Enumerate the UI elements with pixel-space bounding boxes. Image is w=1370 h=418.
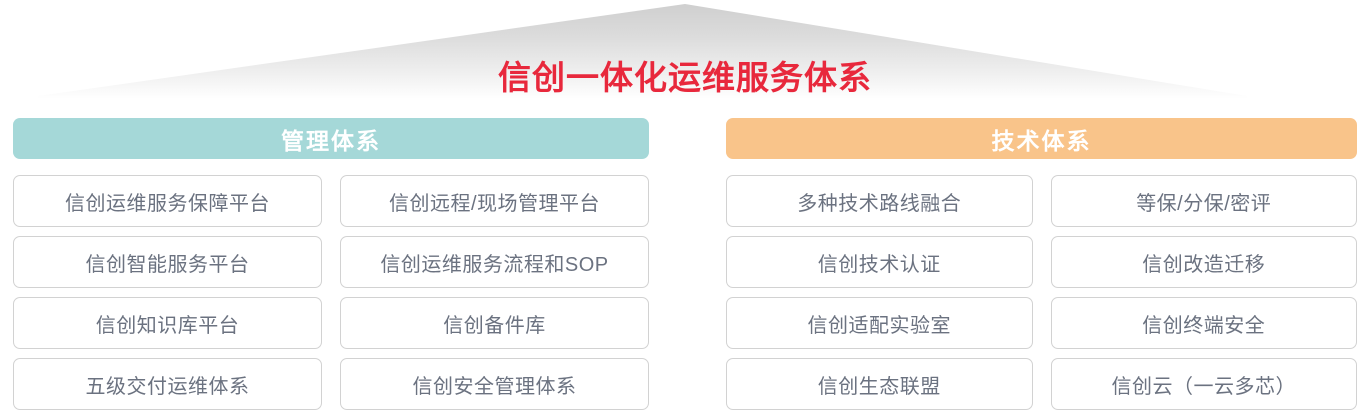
pillar-technology: 技术体系 多种技术路线融合 信创技术认证 信创适配实验室 信创生态联盟 等保/分… [726, 118, 1357, 410]
list-item[interactable]: 信创云（一云多芯） [1051, 358, 1358, 410]
diagram-canvas: 信创一体化运维服务体系 管理体系 信创运维服务保障平台 信创智能服务平台 信创知… [0, 0, 1370, 418]
list-item[interactable]: 信创技术认证 [726, 236, 1033, 288]
pillar-column-3: 多种技术路线融合 信创技术认证 信创适配实验室 信创生态联盟 [726, 175, 1033, 410]
pillar-column-2: 信创远程/现场管理平台 信创运维服务流程和SOP 信创备件库 信创安全管理体系 [340, 175, 649, 410]
list-item[interactable]: 等保/分保/密评 [1051, 175, 1358, 227]
page-title: 信创一体化运维服务体系 [0, 58, 1370, 98]
pillar-management: 管理体系 信创运维服务保障平台 信创智能服务平台 信创知识库平台 五级交付运维体… [13, 118, 649, 410]
pillar-header-management: 管理体系 [13, 118, 649, 159]
list-item[interactable]: 信创知识库平台 [13, 297, 322, 349]
list-item[interactable]: 多种技术路线融合 [726, 175, 1033, 227]
pillar-column-1: 信创运维服务保障平台 信创智能服务平台 信创知识库平台 五级交付运维体系 [13, 175, 322, 410]
pillar-header-technology: 技术体系 [726, 118, 1357, 159]
pillar-column-4: 等保/分保/密评 信创改造迁移 信创终端安全 信创云（一云多芯） [1051, 175, 1358, 410]
pillar-grid-technology: 多种技术路线融合 信创技术认证 信创适配实验室 信创生态联盟 等保/分保/密评 … [726, 175, 1357, 410]
list-item[interactable]: 信创终端安全 [1051, 297, 1358, 349]
list-item[interactable]: 五级交付运维体系 [13, 358, 322, 410]
list-item[interactable]: 信创适配实验室 [726, 297, 1033, 349]
list-item[interactable]: 信创远程/现场管理平台 [340, 175, 649, 227]
list-item[interactable]: 信创备件库 [340, 297, 649, 349]
pillar-grid-management: 信创运维服务保障平台 信创智能服务平台 信创知识库平台 五级交付运维体系 信创远… [13, 175, 649, 410]
list-item[interactable]: 信创运维服务流程和SOP [340, 236, 649, 288]
list-item[interactable]: 信创改造迁移 [1051, 236, 1358, 288]
list-item[interactable]: 信创运维服务保障平台 [13, 175, 322, 227]
list-item[interactable]: 信创智能服务平台 [13, 236, 322, 288]
list-item[interactable]: 信创安全管理体系 [340, 358, 649, 410]
list-item[interactable]: 信创生态联盟 [726, 358, 1033, 410]
